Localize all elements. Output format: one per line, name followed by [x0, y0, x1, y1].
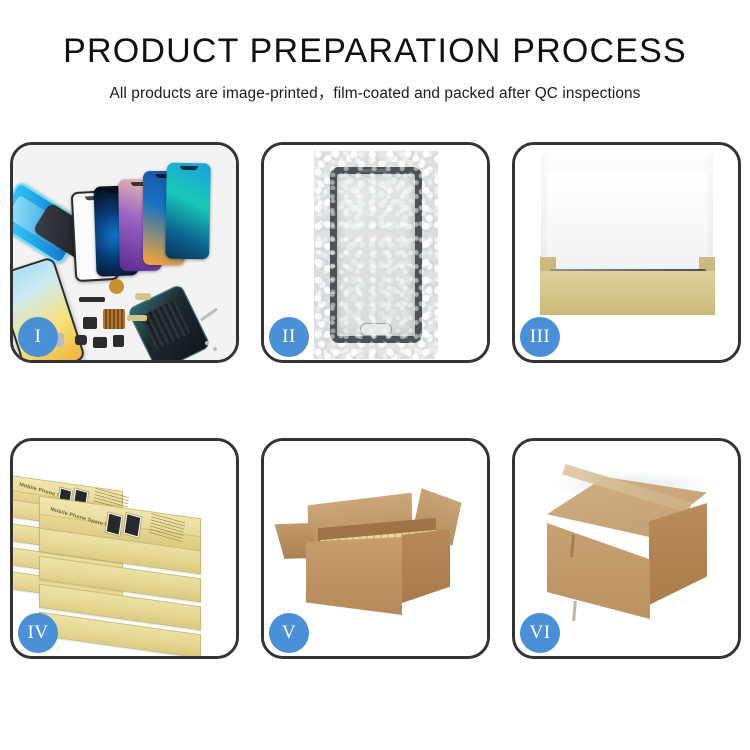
step-image-5: V — [264, 441, 487, 656]
logic-board-part — [103, 309, 125, 329]
step-numeral-1: I — [35, 326, 42, 348]
box-phone-thumbnail — [105, 511, 124, 537]
foam-padding — [541, 153, 713, 271]
carton-seam — [572, 601, 577, 621]
screw-part — [205, 341, 209, 345]
step-image-3: III — [515, 145, 738, 360]
step-panel-1: I — [10, 142, 239, 363]
bubble-texture — [314, 151, 438, 359]
camera-module-part — [109, 279, 124, 294]
step-badge-2: II — [269, 317, 309, 357]
steps-row-1: I II — [10, 142, 741, 363]
page-title: PRODUCT PREPARATION PROCESS — [0, 34, 750, 70]
flex-cable-part — [127, 315, 147, 321]
step-badge-3: III — [520, 317, 560, 357]
step-image-2: II — [264, 145, 487, 360]
connector-part — [83, 317, 97, 329]
step-panel-6: VI — [512, 438, 741, 659]
screw-part — [213, 347, 217, 351]
step-panel-3: III — [512, 142, 741, 363]
flex-cable-part — [135, 293, 151, 300]
product-preparation-infographic: PRODUCT PREPARATION PROCESS All products… — [0, 0, 750, 750]
step-image-4: Mobile Phone Spare Parts Mobile Phone Sp… — [13, 441, 236, 656]
step-badge-1: I — [18, 317, 58, 357]
button-part — [75, 335, 87, 345]
bubble-wrap — [314, 151, 438, 359]
phone-teal-wallpaper — [165, 163, 211, 260]
step-image-1: I — [13, 145, 236, 360]
step-badge-6: VI — [520, 613, 560, 653]
steps-row-2: Mobile Phone Spare Parts Mobile Phone Sp… — [10, 438, 741, 659]
step-numeral-6: VI — [529, 622, 550, 644]
step-image-6: VI — [515, 441, 738, 656]
taptic-part — [113, 335, 124, 347]
step-numeral-5: V — [282, 622, 296, 644]
step-panel-2: II — [261, 142, 490, 363]
page-subtitle: All products are image-printed，film-coat… — [0, 81, 750, 103]
carton-side-panel — [402, 529, 450, 603]
step-panel-5: V — [261, 438, 490, 659]
step-numeral-3: III — [530, 326, 550, 348]
steps-grid: I II — [10, 142, 741, 734]
box-phone-thumbnail — [122, 512, 142, 539]
notch-icon — [180, 166, 198, 170]
step-badge-5: V — [269, 613, 309, 653]
step-numeral-2: II — [282, 326, 296, 348]
kraft-box-front — [540, 271, 715, 315]
step-numeral-4: IV — [27, 622, 48, 644]
step-panel-4: Mobile Phone Spare Parts Mobile Phone Sp… — [10, 438, 239, 659]
header: PRODUCT PREPARATION PROCESS All products… — [0, 34, 750, 103]
carton-front-panel — [306, 537, 402, 615]
carton-front-panel — [547, 523, 650, 619]
step-badge-4: IV — [18, 613, 58, 653]
vibrator-part — [93, 337, 107, 348]
speaker-part — [79, 297, 105, 302]
